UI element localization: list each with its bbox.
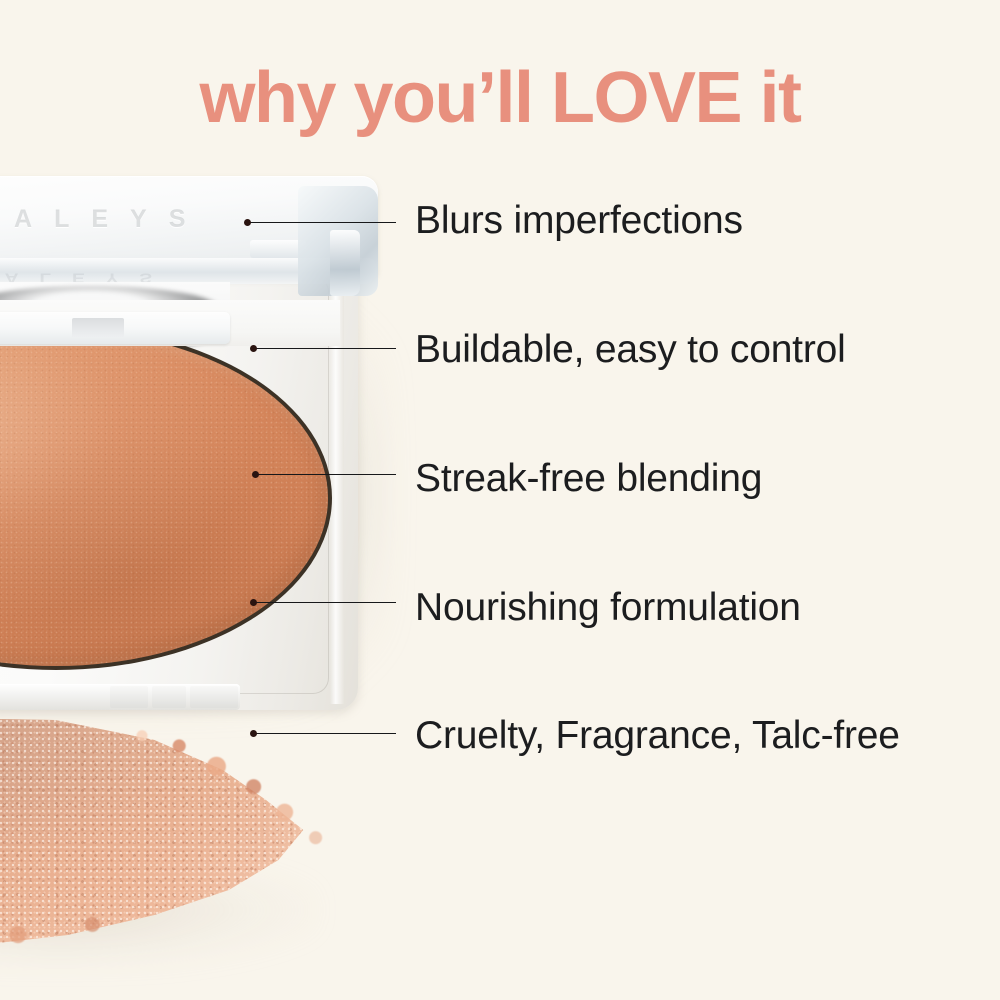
leader-line	[253, 348, 396, 349]
leader-dot	[250, 599, 257, 606]
callout-label-4: Nourishing formulation	[415, 586, 801, 630]
leader-dot	[252, 471, 259, 478]
lid-corner-facet	[330, 230, 360, 296]
leader-dot	[250, 730, 257, 737]
brand-emboss-text: HALEYS	[0, 205, 254, 234]
leader-dot	[250, 345, 257, 352]
callout-label-5: Cruelty, Fragrance, Talc-free	[415, 714, 900, 758]
infographic-canvas: why you’ll LOVE it HALEYS HALEYS	[0, 0, 1000, 1000]
product-image: HALEYS HALEYS	[0, 0, 420, 1000]
callout-label-3: Streak-free blending	[415, 457, 762, 501]
leader-line	[253, 602, 396, 603]
leader-line	[255, 474, 396, 475]
swatch-crumbs	[0, 700, 390, 955]
leader-dot	[244, 219, 251, 226]
leader-line	[247, 222, 396, 223]
callout-label-2: Buildable, easy to control	[415, 328, 846, 372]
callout-label-1: Blurs imperfections	[415, 199, 743, 243]
powder-swatch	[0, 700, 390, 960]
leader-line	[253, 733, 396, 734]
glass-shelf-notch-front	[72, 318, 124, 338]
